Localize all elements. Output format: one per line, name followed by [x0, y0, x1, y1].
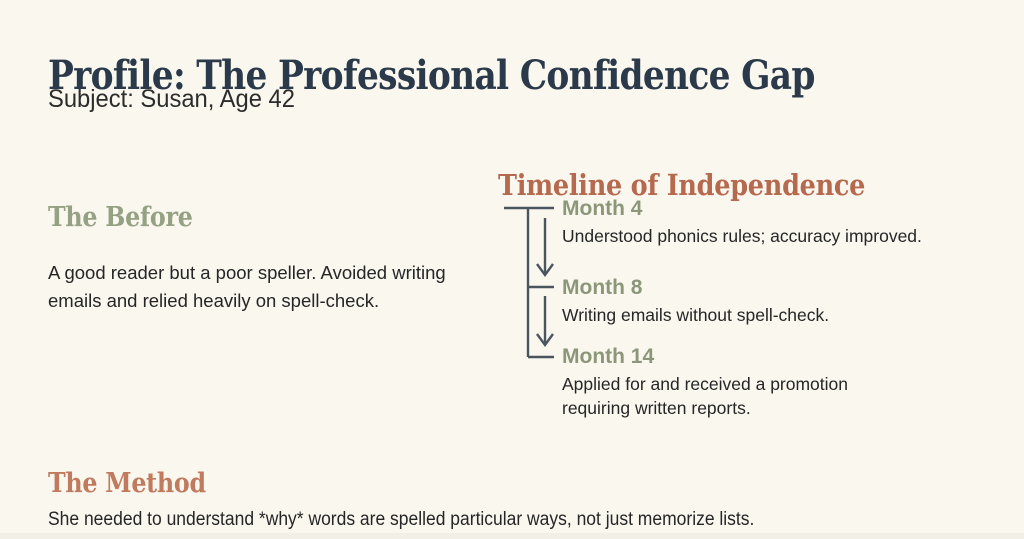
milestone-label: Month 4: [562, 196, 962, 222]
section-body-the-before: A good reader but a poor speller. Avoide…: [48, 259, 468, 315]
timeline-milestone: Month 14 Applied for and received a prom…: [562, 344, 962, 420]
timeline-milestone: Month 8 Writing emails without spell-che…: [562, 275, 962, 327]
milestone-description: Writing emails without spell-check.: [562, 303, 962, 327]
slide-canvas: Profile: The Professional Confidence Gap…: [0, 0, 1024, 539]
timeline-milestone: Month 4 Understood phonics rules; accura…: [562, 196, 962, 248]
section-heading-the-method: The Method: [48, 468, 206, 499]
milestone-label: Month 14: [562, 344, 962, 370]
milestone-label: Month 8: [562, 275, 962, 301]
milestone-description: Applied for and received a promotion req…: [562, 372, 907, 420]
timeline-of-independence: Month 4 Understood phonics rules; accura…: [498, 196, 968, 426]
bottom-edge-band: [0, 533, 1024, 539]
section-heading-the-before: The Before: [48, 202, 193, 233]
subject-line: Subject: Susan, Age 42: [48, 84, 295, 114]
section-body-the-method: She needed to understand *why* words are…: [48, 507, 913, 533]
milestone-description: Understood phonics rules; accuracy impro…: [562, 224, 962, 248]
